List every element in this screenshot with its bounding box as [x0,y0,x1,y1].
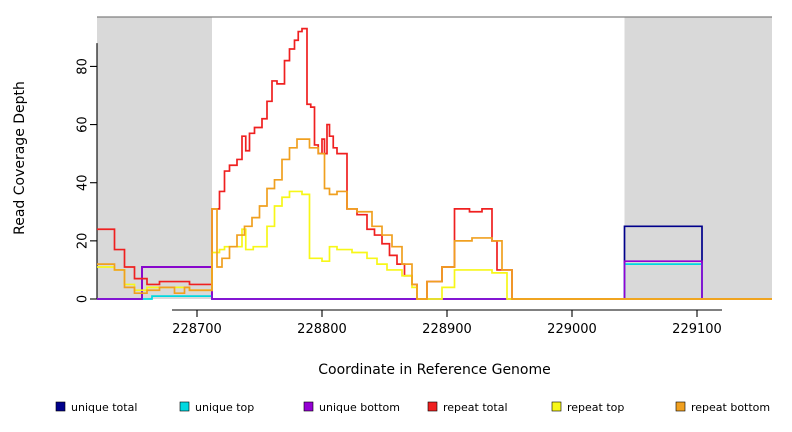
y-axis-title: Read Coverage Depth [12,81,28,235]
legend-label-unique-bottom: unique bottom [319,401,400,414]
x-tick-label: 228900 [422,322,472,337]
legend-swatch-unique-total [56,402,65,411]
x-tick-label: 229100 [672,322,722,337]
repeat-region-left [97,17,212,299]
y-tick-label: 60 [76,116,91,133]
repeat-region-right [625,17,773,299]
coverage-plot-figure: 020406080228700228800228900229000229100R… [0,0,792,432]
legend-swatch-repeat-bottom [676,402,685,411]
y-tick-label: 80 [76,58,91,75]
x-axis-title: Coordinate in Reference Genome [318,362,551,378]
legend-swatch-repeat-total [428,402,437,411]
coverage-chart: 020406080228700228800228900229000229100R… [0,0,792,432]
legend-label-repeat-bottom: repeat bottom [691,401,770,414]
x-tick-label: 228700 [172,322,222,337]
legend-label-repeat-total: repeat total [443,401,508,414]
y-tick-label: 0 [76,295,91,303]
x-tick-label: 229000 [547,322,597,337]
x-tick-label: 228800 [297,322,347,337]
legend-label-unique-top: unique top [195,401,254,414]
legend-swatch-unique-bottom [304,402,313,411]
y-tick-label: 20 [76,233,91,250]
legend-label-unique-total: unique total [71,401,137,414]
legend-label-repeat-top: repeat top [567,401,624,414]
legend-swatch-repeat-top [552,402,561,411]
legend-swatch-unique-top [180,402,189,411]
y-tick-label: 40 [76,174,91,191]
